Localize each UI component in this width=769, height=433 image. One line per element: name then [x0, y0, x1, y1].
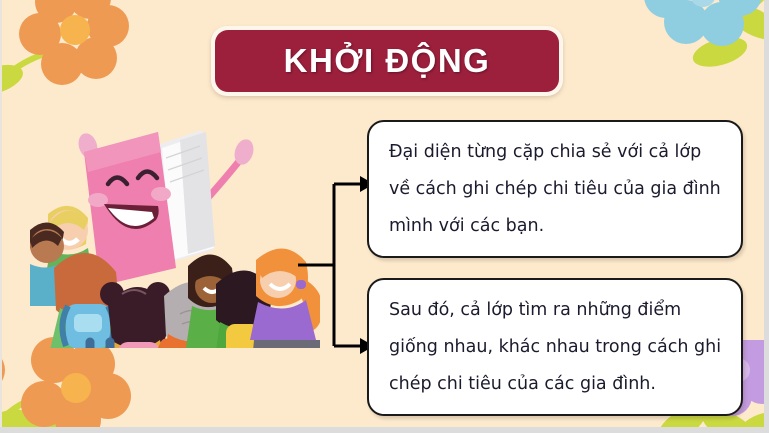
page-title: KHỞI ĐỘNG: [284, 42, 491, 80]
flower-top-left: [2, 0, 152, 134]
content-box-2: Sau đó, cả lớp tìm ra những điểm giống n…: [367, 278, 743, 416]
slide-canvas: KHỞI ĐỘNG Đại diện từng cặp chia sẻ với …: [2, 0, 764, 427]
content-box-1-text: Đại diện từng cặp chia sẻ với cả lớp về …: [389, 134, 723, 245]
flower-top-right: [644, 0, 764, 92]
title-banner: KHỞI ĐỘNG: [211, 26, 563, 96]
content-box-1: Đại diện từng cặp chia sẻ với cả lớp về …: [367, 120, 743, 258]
branching-arrow-connector: [298, 170, 376, 360]
title-banner-fill: KHỞI ĐỘNG: [215, 30, 559, 92]
content-box-2-text: Sau đó, cả lớp tìm ra những điểm giống n…: [389, 292, 723, 403]
slide-root: KHỞI ĐỘNG Đại diện từng cặp chia sẻ với …: [0, 0, 769, 433]
frame-right-edge: [764, 0, 769, 433]
children-with-book-character: [30, 118, 320, 348]
frame-bottom-edge: [0, 427, 769, 433]
